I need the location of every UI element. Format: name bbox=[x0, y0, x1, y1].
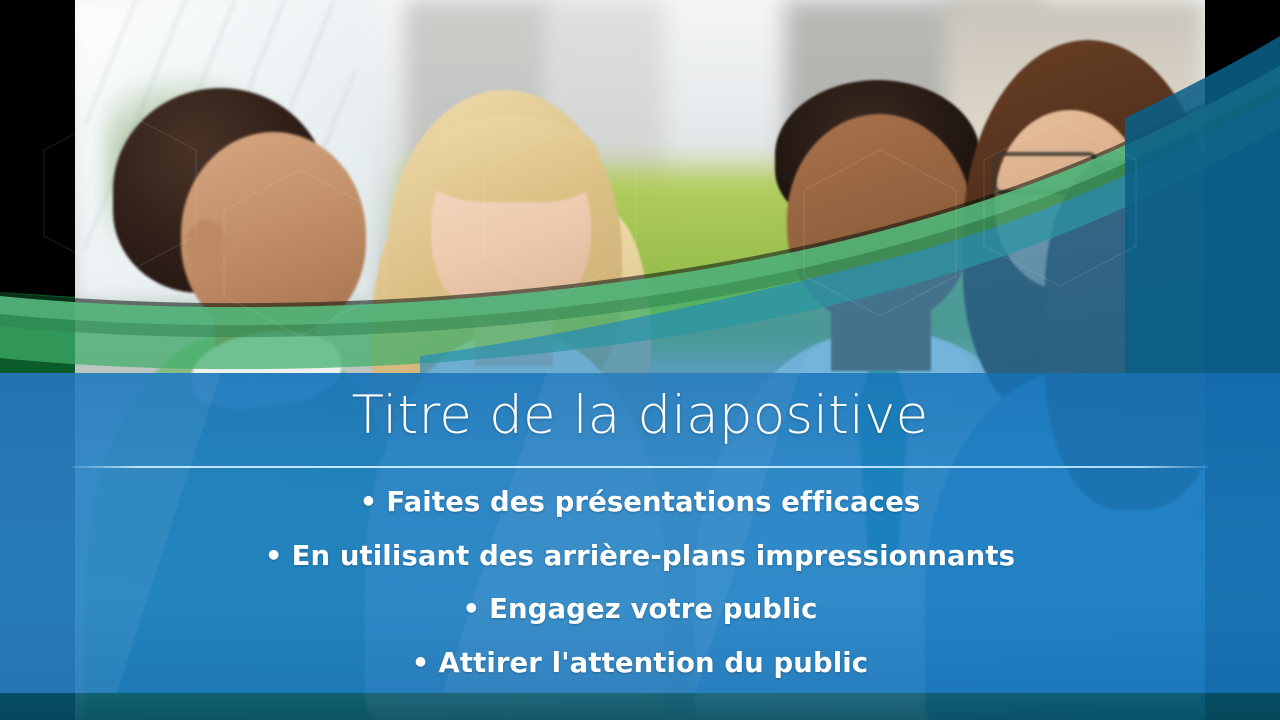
list-item-label: Faites des présentations efficaces bbox=[386, 486, 920, 518]
slide-bullet-list[interactable]: •Faites des présentations efficaces •En … bbox=[0, 476, 1280, 690]
slide-title[interactable]: Titre de la diapositive bbox=[0, 386, 1280, 447]
bullet-marker-icon: • bbox=[412, 647, 430, 679]
panel-bottom-strip bbox=[0, 693, 1280, 720]
bullet-marker-icon: • bbox=[462, 593, 480, 625]
list-item[interactable]: •Faites des présentations efficaces bbox=[0, 476, 1280, 530]
list-item-label: Attirer l'attention du public bbox=[438, 647, 868, 679]
list-item-label: Engagez votre public bbox=[489, 593, 817, 625]
list-item[interactable]: •En utilisant des arrière-plans impressi… bbox=[0, 530, 1280, 584]
letterbox-bar-left bbox=[0, 0, 75, 373]
letterbox-bar-right bbox=[1205, 0, 1280, 373]
list-item[interactable]: •Attirer l'attention du public bbox=[0, 637, 1280, 691]
bullet-marker-icon: • bbox=[360, 486, 378, 518]
title-divider bbox=[72, 466, 1208, 468]
bullet-marker-icon: • bbox=[265, 540, 283, 572]
list-item-label: En utilisant des arrière-plans impressio… bbox=[292, 540, 1015, 572]
list-item[interactable]: •Engagez votre public bbox=[0, 583, 1280, 637]
presentation-slide: Titre de la diapositive •Faites des prés… bbox=[0, 0, 1280, 720]
